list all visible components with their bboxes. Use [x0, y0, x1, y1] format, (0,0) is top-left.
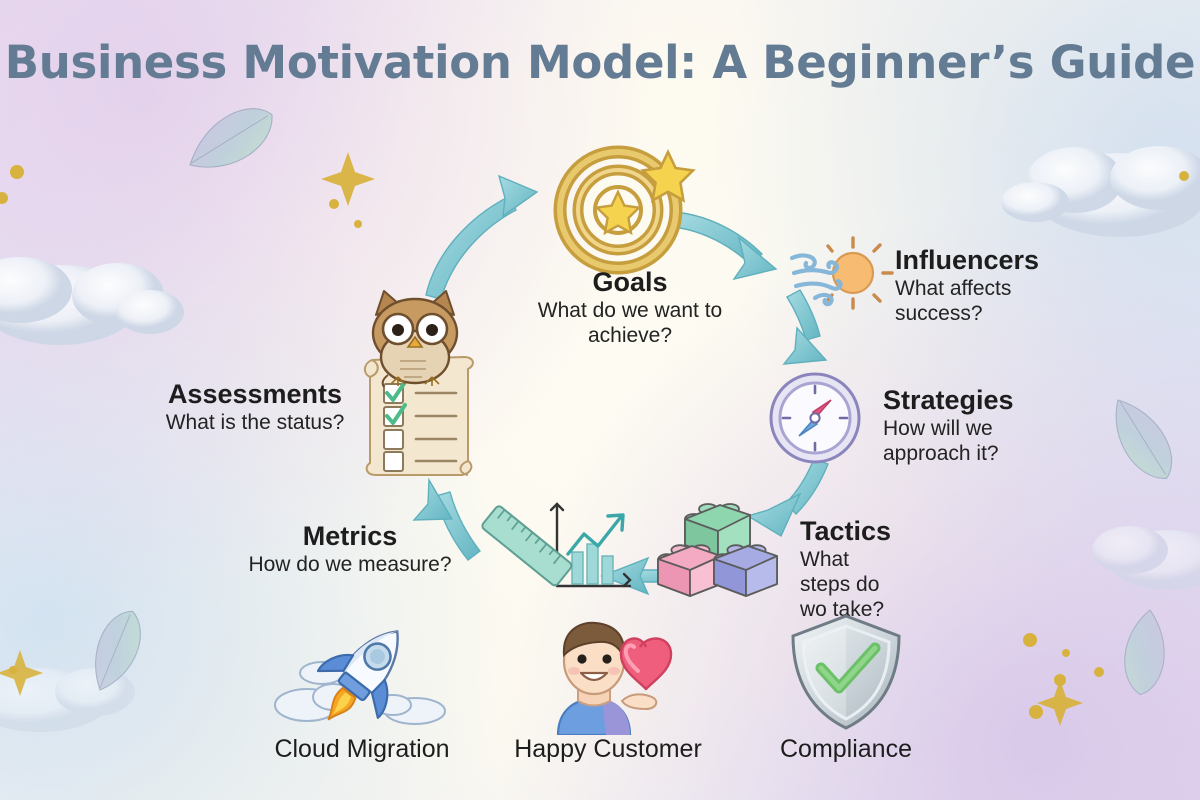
cloud-decoration — [1092, 526, 1200, 590]
ruler-chart-icon — [480, 490, 640, 605]
shield-check-icon — [716, 615, 976, 735]
cloud-decoration — [1001, 146, 1200, 237]
outcome-cloud-migration[interactable]: Cloud Migration — [232, 615, 492, 764]
metrics-title: Metrics — [240, 522, 460, 551]
rocket-clouds-icon — [232, 615, 492, 735]
strategies-title: Strategies — [883, 386, 1014, 415]
compass-icon — [765, 368, 865, 473]
outcome-label: Compliance — [716, 735, 976, 764]
sun-wind-icon — [790, 232, 900, 317]
strategies-text: Strategies How will we approach it? — [883, 386, 1014, 467]
strategies-question: How will we approach it? — [883, 417, 1014, 467]
outcome-label: Happy Customer — [478, 735, 738, 764]
cloud-decoration — [0, 257, 184, 345]
leaf-decoration — [80, 604, 153, 698]
goals-question: What do we want to achieve? — [505, 299, 755, 349]
goals-title: Goals — [505, 268, 755, 297]
lego-bricks-icon — [648, 495, 788, 610]
outcome-compliance[interactable]: Compliance — [716, 615, 976, 764]
leaf-decoration — [1102, 389, 1182, 490]
person-heart-icon — [478, 615, 738, 735]
metrics-text: Metrics How do we measure? — [240, 522, 460, 578]
tactics-title: Tactics — [800, 517, 891, 546]
page-title: Business Motivation Model: A Beginner’s … — [0, 36, 1200, 89]
owl-checklist-icon — [350, 285, 490, 485]
goals-text: Goals What do we want to achieve? — [505, 268, 755, 349]
influencers-text: Influencers What affects success? — [895, 246, 1039, 327]
assessments-title: Assessments — [160, 380, 350, 409]
assessments-question: What is the status? — [160, 411, 350, 436]
tactics-text: Tactics What steps do wo take? — [800, 517, 891, 622]
assessments-text: Assessments What is the status? — [160, 380, 350, 436]
metrics-question: How do we measure? — [240, 553, 460, 578]
target-star-icon — [550, 140, 700, 280]
leaf-decoration — [178, 97, 284, 181]
outcome-label: Cloud Migration — [232, 735, 492, 764]
influencers-question: What affects success? — [895, 277, 1039, 327]
influencers-title: Influencers — [895, 246, 1039, 275]
cloud-decoration — [0, 668, 135, 732]
leaf-decoration — [1119, 607, 1172, 698]
outcome-happy-customer[interactable]: Happy Customer — [478, 615, 738, 764]
infographic-canvas: Business Motivation Model: A Beginner’s … — [0, 0, 1200, 800]
